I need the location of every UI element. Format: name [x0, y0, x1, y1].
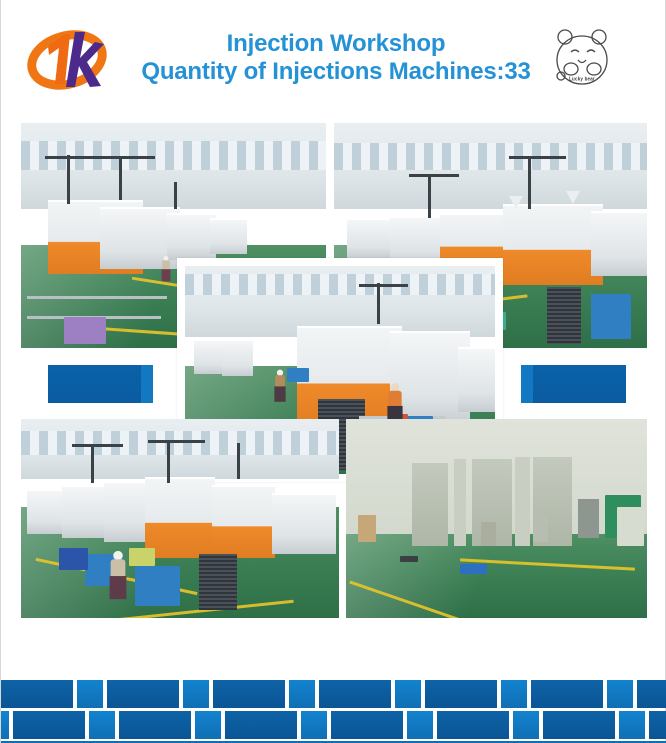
band-block — [183, 680, 209, 708]
band-block — [195, 711, 221, 739]
bear-mascot-caption: Lucky bear — [547, 75, 617, 82]
blue-bar-left — [48, 365, 153, 403]
band-block — [1, 711, 9, 739]
photo-bottom-right — [346, 419, 647, 618]
band-row-top — [1, 680, 666, 708]
page-subtitle: Quantity of Injections Machines:33 — [121, 58, 551, 86]
blue-bar-right — [521, 365, 626, 403]
band-block — [77, 680, 103, 708]
band-block — [289, 680, 315, 708]
band-block — [407, 711, 433, 739]
photo-bottom-left — [21, 419, 339, 618]
band-block — [437, 711, 509, 739]
band-block — [501, 680, 527, 708]
band-row-bottom — [1, 711, 666, 739]
band-block — [119, 711, 191, 739]
band-block — [319, 680, 391, 708]
bear-mascot-icon — [547, 22, 617, 94]
slide-page: Injection Workshop Quantity of Injection… — [0, 0, 666, 743]
page-title: Injection Workshop — [121, 30, 551, 58]
band-block — [89, 711, 115, 739]
title-block: Injection Workshop Quantity of Injection… — [121, 30, 551, 87]
band-block — [619, 711, 645, 739]
band-block — [213, 680, 285, 708]
bottom-decorative-band — [1, 680, 666, 743]
band-block — [425, 680, 497, 708]
band-block — [607, 680, 633, 708]
photo-collage — [1, 112, 666, 680]
company-logo-icon — [25, 24, 109, 92]
band-block — [531, 680, 603, 708]
band-block — [1, 680, 73, 708]
band-block — [107, 680, 179, 708]
band-block — [331, 711, 403, 739]
band-block — [13, 711, 85, 739]
band-block — [637, 680, 666, 708]
band-block — [395, 680, 421, 708]
band-block — [225, 711, 297, 739]
band-block — [649, 711, 666, 739]
header: Injection Workshop Quantity of Injection… — [1, 0, 666, 112]
band-block — [513, 711, 539, 739]
band-block — [301, 711, 327, 739]
band-block — [543, 711, 615, 739]
